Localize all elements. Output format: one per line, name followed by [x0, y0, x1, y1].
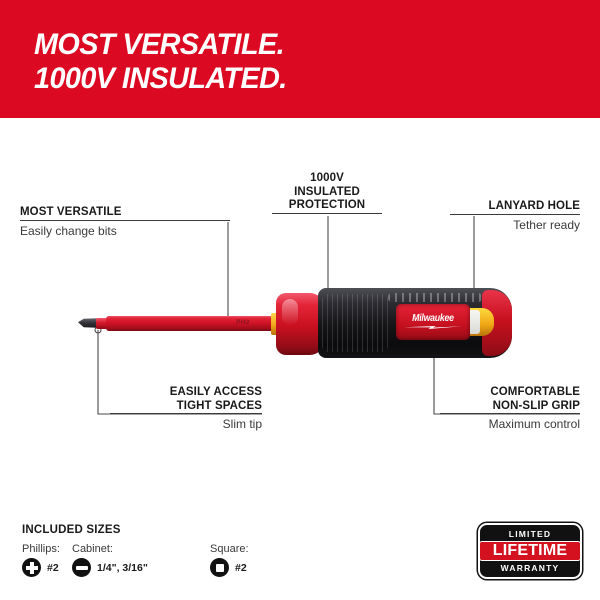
- header-banner: MOST VERSATILE. 1000V INSULATED.: [0, 0, 600, 118]
- callout-insulated-rule: [272, 213, 382, 214]
- callout-most-versatile-subtitle: Easily change bits: [20, 221, 230, 239]
- callout-tight-spaces-title-line2: TIGHT SPACES: [110, 400, 262, 414]
- size-item-square: Square: #2: [210, 543, 249, 577]
- callout-insulated-title-line1: 1000V: [272, 172, 382, 186]
- screwdriver-grip-top-ribs: [388, 293, 482, 302]
- callout-insulated-title-line2: INSULATED: [272, 186, 382, 200]
- callout-tight-spaces-subtitle: Slim tip: [110, 414, 262, 432]
- size-square-label: Square:: [210, 543, 249, 555]
- callout-insulated-protection: 1000V INSULATED PROTECTION: [272, 172, 382, 214]
- callout-most-versatile: MOST VERSATILE Easily change bits: [20, 206, 230, 239]
- callout-grip-subtitle: Maximum control: [440, 414, 580, 432]
- callout-lanyard-title: LANYARD HOLE: [450, 200, 580, 214]
- screwdriver-bolster-highlight: [282, 299, 298, 325]
- included-sizes-heading: INCLUDED SIZES: [22, 524, 121, 536]
- warranty-bottom-text: WARRANTY: [501, 563, 560, 573]
- size-cabinet-label: Cabinet:: [72, 543, 148, 555]
- size-phillips-label: Phillips:: [22, 543, 60, 555]
- size-phillips-value: #2: [47, 562, 59, 574]
- size-cabinet-row: 1/4", 3/16": [72, 558, 148, 577]
- header-headline-line1: MOST VERSATILE.: [34, 28, 284, 62]
- callout-tight-spaces: EASILY ACCESS TIGHT SPACES Slim tip: [110, 386, 262, 432]
- warranty-top-text: LIMITED: [509, 529, 551, 539]
- warranty-main-text: LIFETIME: [479, 541, 581, 561]
- warranty-badge: LIMITED LIFETIME WARRANTY: [478, 523, 582, 579]
- callout-grip-title-line2: NON-SLIP GRIP: [440, 400, 580, 414]
- milwaukee-logo: Milwaukee: [404, 313, 462, 324]
- callout-lanyard-subtitle: Tether ready: [450, 215, 580, 233]
- product-infographic: MOST VERSATILE. 1000V INSULATED. PH2 Mil…: [0, 0, 600, 600]
- size-square-row: #2: [210, 558, 249, 577]
- cabinet-bit-icon: [72, 558, 91, 577]
- square-bit-icon: [210, 558, 229, 577]
- screwdriver-shaft-marking: PH2: [228, 319, 258, 326]
- header-headline-line2: 1000V INSULATED.: [34, 62, 287, 96]
- size-item-cabinet: Cabinet: 1/4", 3/16": [72, 543, 148, 577]
- phillips-bit-icon: [22, 558, 41, 577]
- callout-most-versatile-title: MOST VERSATILE: [20, 206, 230, 220]
- callout-non-slip-grip: COMFORTABLE NON-SLIP GRIP Maximum contro…: [440, 386, 580, 432]
- callout-insulated-title-line3: PROTECTION: [272, 199, 382, 213]
- size-cabinet-value: 1/4", 3/16": [97, 562, 148, 574]
- size-phillips-row: #2: [22, 558, 60, 577]
- screwdriver-grip-ribs: [322, 294, 388, 352]
- callout-grip-title-line1: COMFORTABLE: [440, 386, 580, 400]
- size-item-phillips: Phillips: #2: [22, 543, 60, 577]
- callout-tight-spaces-title-line1: EASILY ACCESS: [110, 386, 262, 400]
- size-square-value: #2: [235, 562, 247, 574]
- callout-lanyard-hole: LANYARD HOLE Tether ready: [450, 200, 580, 233]
